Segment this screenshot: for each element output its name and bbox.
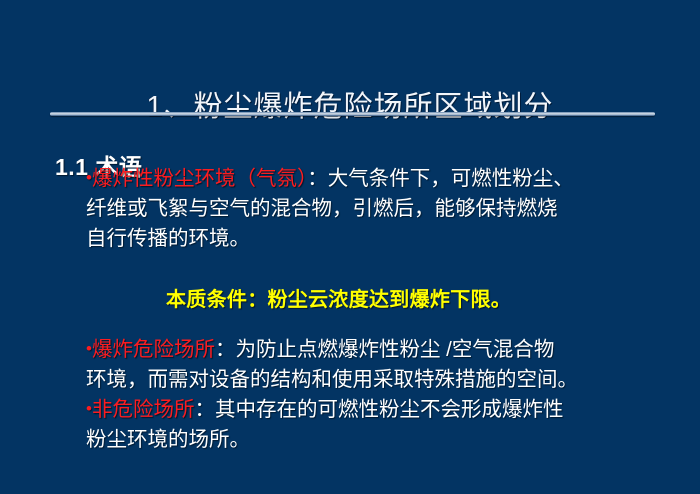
term-definition-line-1: ：其中存在的可燃性粉尘不会形成爆炸性 xyxy=(194,398,563,421)
term-first-line: •爆炸危险场所：为防止点燃爆炸性粉尘 /空气混合物 xyxy=(86,334,686,365)
term-first-line: •爆炸性粉尘环境（气氛）：大气条件下，可燃性粉尘、 xyxy=(86,163,686,194)
term-definition-line-1: ：大气条件下，可燃性粉尘、 xyxy=(307,167,574,190)
page-title: 1、粉尘爆炸危险场所区域划分 xyxy=(0,83,700,125)
term-definition-line-2: 环境，而需对设备的结构和使用采取特殊措施的空间。 xyxy=(86,365,686,395)
emphasis-note: 本质条件：粉尘云浓度达到爆炸下限。 xyxy=(166,283,511,312)
term-block-non-hazardous-area: •非危险场所：其中存在的可燃性粉尘不会形成爆炸性 粉尘环境的场所。 xyxy=(86,394,686,455)
slide-canvas: 1、粉尘爆炸危险场所区域划分 1.1 术语 •爆炸性粉尘环境（气氛）：大气条件下… xyxy=(0,0,700,494)
term-first-line: •非危险场所：其中存在的可燃性粉尘不会形成爆炸性 xyxy=(86,394,686,425)
term-label: 爆炸性粉尘环境（气氛） xyxy=(92,167,307,190)
term-block-explosive-dust-atmosphere: •爆炸性粉尘环境（气氛）：大气条件下，可燃性粉尘、 纤维或飞絮与空气的混合物，引… xyxy=(86,163,686,254)
term-definition-line-1: ：为防止点燃爆炸性粉尘 /空气混合物 xyxy=(215,338,554,361)
term-definition-line-2: 粉尘环境的场所。 xyxy=(86,425,686,455)
term-label: 非危险场所 xyxy=(92,398,195,421)
term-definition-line-2: 纤维或飞絮与空气的混合物，引燃后，能够保持燃烧 xyxy=(86,194,686,224)
term-label: 爆炸危险场所 xyxy=(92,338,215,361)
term-block-hazardous-area: •爆炸危险场所：为防止点燃爆炸性粉尘 /空气混合物 环境，而需对设备的结构和使用… xyxy=(86,334,686,395)
title-divider-rule xyxy=(50,112,655,116)
term-definition-line-3: 自行传播的环境。 xyxy=(86,224,686,254)
